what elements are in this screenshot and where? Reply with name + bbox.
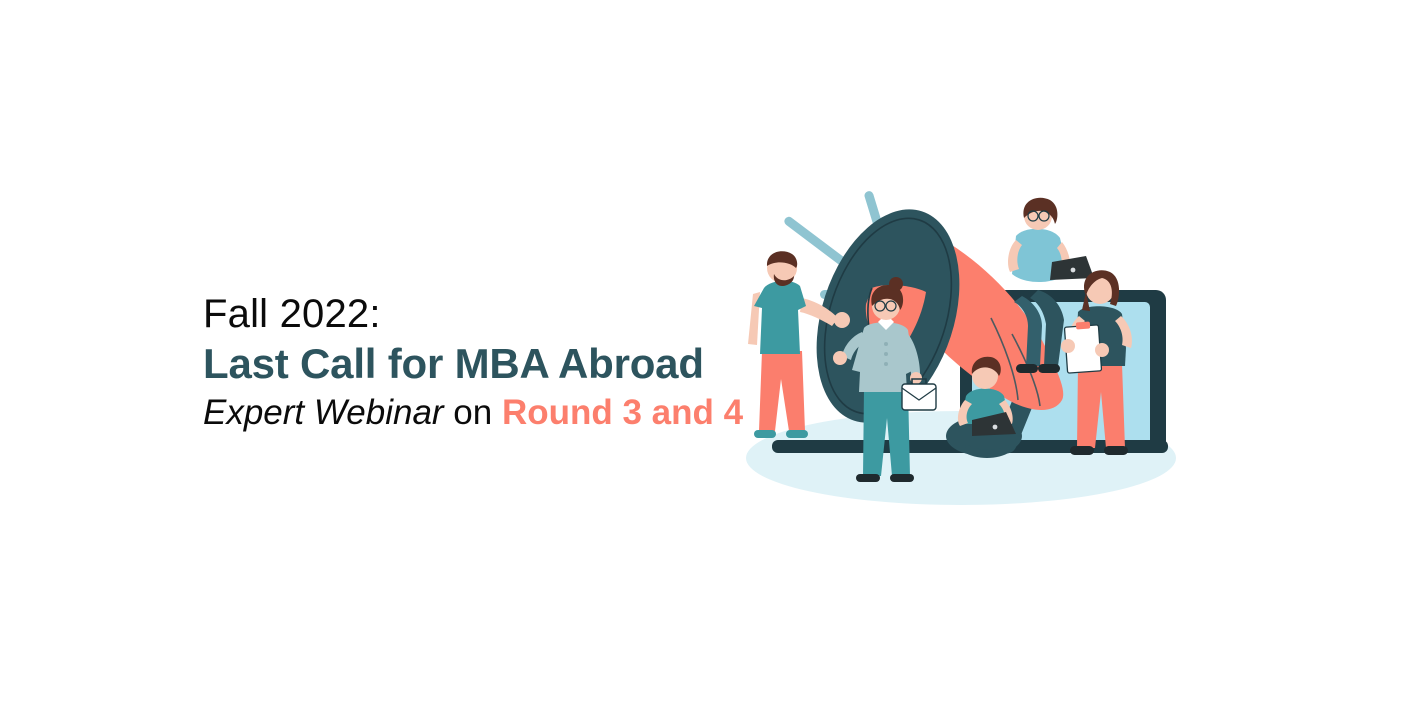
webinar-megaphone-illustration: [716, 168, 1196, 508]
briefcase-woman-shoe-a: [856, 474, 880, 482]
briefcase-woman-bun: [889, 277, 903, 291]
clipboard-clip: [1076, 322, 1090, 330]
headline-sub-accent: Round 3 and 4: [502, 393, 743, 432]
left-man-pants: [759, 351, 805, 431]
headline-block: Fall 2022: Last Call for MBA Abroad Expe…: [203, 290, 763, 436]
banner-root: Fall 2022: Last Call for MBA Abroad Expe…: [0, 0, 1401, 701]
sitting-person-laptop-logo: [993, 425, 998, 430]
headline-main: Last Call for MBA Abroad: [203, 338, 763, 390]
headline-sub: Expert Webinar on Round 3 and 4: [203, 390, 763, 436]
briefcase-woman-button-1: [884, 342, 888, 346]
briefcase: [902, 384, 936, 410]
briefcase-woman-button-2: [884, 352, 888, 356]
briefcase-woman-shoe-b: [890, 474, 914, 482]
edge-person-laptop-logo: [1071, 268, 1076, 273]
clipboard-woman-hand-left: [1061, 339, 1075, 353]
clipboard-woman-shoe-a: [1070, 446, 1094, 455]
edge-person-shoe-b: [1016, 364, 1038, 373]
left-man-hand-right: [834, 312, 850, 328]
left-man-shoe-a: [754, 430, 776, 438]
briefcase-woman-hand-left: [833, 351, 847, 365]
clipboard-woman-shoe-b: [1104, 446, 1128, 455]
headline-sub-emphasis: Expert Webinar: [203, 393, 444, 432]
left-man-shoe-b: [786, 430, 808, 438]
briefcase-woman-button-3: [884, 362, 888, 366]
headline-eyebrow: Fall 2022:: [203, 290, 763, 338]
edge-person-shoe-a: [1038, 364, 1060, 373]
clipboard-woman-hand-right: [1095, 343, 1109, 357]
headline-sub-connector: on: [444, 393, 502, 432]
left-man-shirt: [754, 281, 806, 354]
